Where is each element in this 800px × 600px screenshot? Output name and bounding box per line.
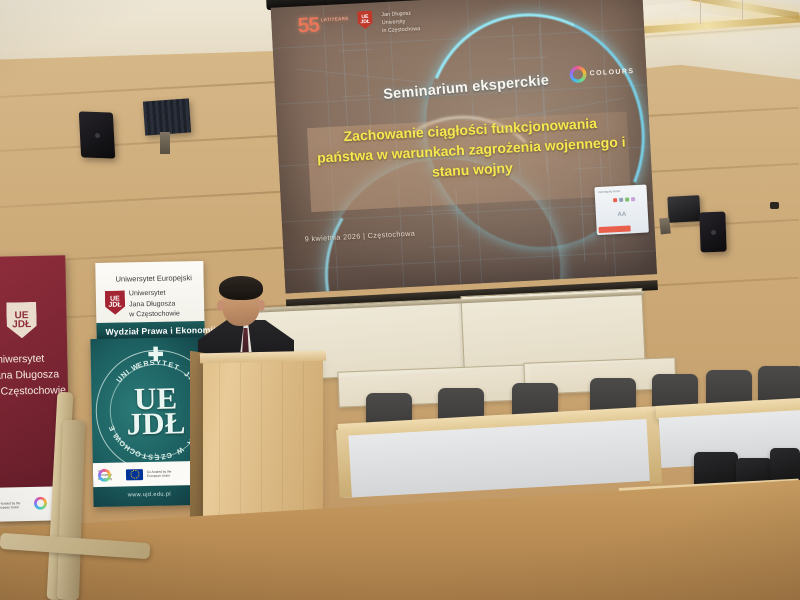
ceiling-hanger: [700, 0, 701, 24]
popup-end-button: [599, 225, 631, 233]
anniversary-label: LAT/YEARS: [321, 16, 349, 22]
colours-ring-icon: [98, 468, 111, 481]
anniversary-55-icon: 55 LAT/YEARS: [297, 12, 349, 39]
eu-caption: Co-funded by the European Union: [147, 469, 175, 478]
popup-header: Udostępnij ekran: [598, 189, 621, 194]
ujd-shield-icon: UE JDŁ: [6, 302, 37, 339]
wall-light-panel: [143, 98, 191, 135]
lecture-hall-photo: 55 LAT/YEARS UE JDŁ Jan Długosz Universi…: [0, 0, 800, 600]
seal-ring-text: UNIWERSYTET JANA DŁUGOSZA W CZĘSTOCHOWIE: [95, 349, 206, 471]
banner-green-footer: colours European University Co-funded by…: [93, 461, 205, 487]
shield-monogram: UE JDŁ: [108, 296, 121, 309]
colours-logo: COLOURS: [569, 63, 635, 83]
ear: [217, 300, 224, 311]
banner-white-header: Uniwersytet Europejski UE JDŁ Uniwersyte…: [95, 261, 204, 341]
shield-monogram: UE JDŁ: [357, 15, 372, 25]
ujd-shield-icon: UE JDŁ: [105, 290, 125, 314]
banner-green-rollup: ✚ UE JDŁ UNIWERSYTET JANA DŁUGOSZA W CZĘ…: [90, 337, 205, 507]
wall-monitor: [667, 195, 700, 223]
banner-eu-line: Uniwersytet Europejski: [115, 273, 191, 283]
projected-slide: 55 LAT/YEARS UE JDŁ Jan Długosz Universi…: [271, 0, 657, 294]
popup-icon-row: [613, 197, 635, 202]
projection-screen: 55 LAT/YEARS UE JDŁ Jan Długosz Universi…: [270, 0, 657, 304]
colours-ring-icon: [34, 497, 47, 510]
eu-flag-icon: [126, 469, 143, 480]
hair: [219, 276, 263, 300]
slide-popup-panel: Udostępnij ekran AA: [594, 185, 648, 236]
anniversary-number: 55: [297, 13, 320, 38]
ear: [258, 300, 265, 311]
wall-speaker-right: [699, 212, 726, 253]
popup-avatar: AA: [596, 210, 648, 219]
banner-url: www.ujd.edu.pl: [93, 491, 205, 499]
wall-camera-icon: [770, 202, 779, 209]
banner-university-name: Uniwersytet Jana Długosza w Częstochowie: [129, 288, 180, 320]
panel-bracket: [160, 132, 170, 154]
eu-caption: Co-funded by the European Union: [0, 501, 26, 510]
ceiling-hanger: [742, 0, 743, 20]
ujd-shield-icon: UE JDŁ: [357, 11, 373, 30]
colours-label: COLOURS: [590, 68, 635, 77]
slide-university-name: Jan Długosz University in Częstochowa: [381, 8, 420, 35]
wall-speaker-left: [79, 111, 116, 158]
monitor-bracket: [659, 218, 671, 235]
shield-monogram: UE JDŁ: [12, 311, 31, 330]
colours-ring-icon: [569, 65, 587, 83]
